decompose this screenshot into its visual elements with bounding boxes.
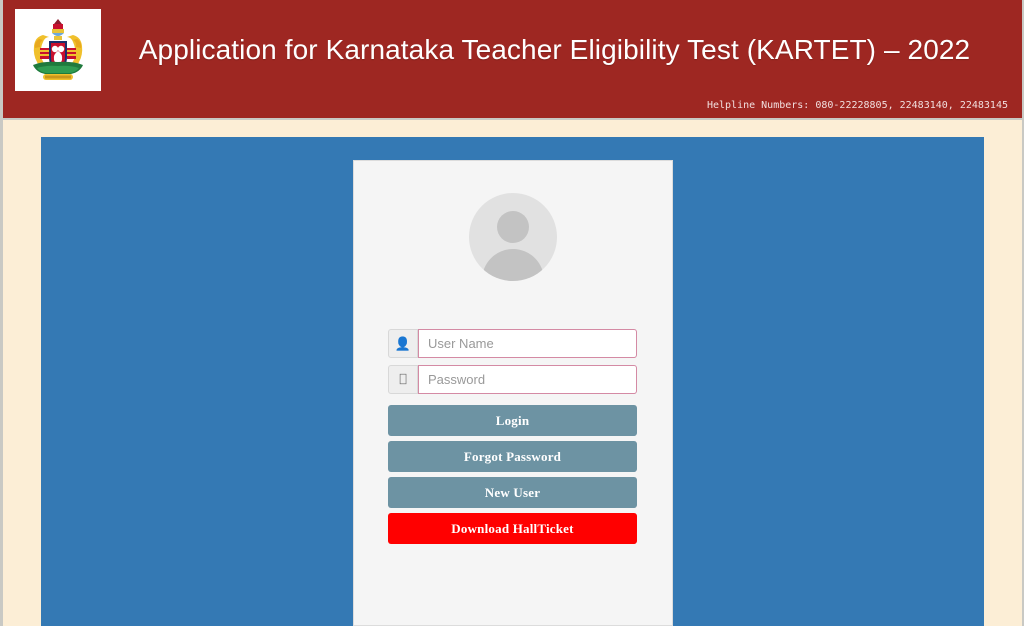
helpline-numbers: Helpline Numbers: 080-22228805, 22483140… [3,98,1022,120]
password-row: ⎕ [388,365,637,394]
login-form: 👤 ⎕ Login Forgot Password New User Downl… [388,329,637,544]
forgot-password-button[interactable]: Forgot Password [388,441,637,472]
blue-content-panel: 👤 ⎕ Login Forgot Password New User Downl… [41,137,984,626]
login-button[interactable]: Login [388,405,637,436]
username-input[interactable] [418,329,637,358]
avatar-body-shape [482,249,544,281]
karnataka-state-emblem-icon [15,9,101,91]
login-card: 👤 ⎕ Login Forgot Password New User Downl… [353,160,673,626]
lock-icon: ⎕ [388,365,418,394]
user-icon: 👤 [388,329,418,358]
page-frame: Application for Karnataka Teacher Eligib… [0,0,1024,626]
user-avatar-placeholder-icon [469,193,557,281]
new-user-button[interactable]: New User [388,477,637,508]
content-area: 👤 ⎕ Login Forgot Password New User Downl… [3,122,1022,626]
username-row: 👤 [388,329,637,358]
page-title: Application for Karnataka Teacher Eligib… [101,34,1022,66]
password-input[interactable] [418,365,637,394]
download-hallticket-button[interactable]: Download HallTicket [388,513,637,544]
site-header: Application for Karnataka Teacher Eligib… [3,0,1022,100]
avatar-head-shape [497,211,529,243]
